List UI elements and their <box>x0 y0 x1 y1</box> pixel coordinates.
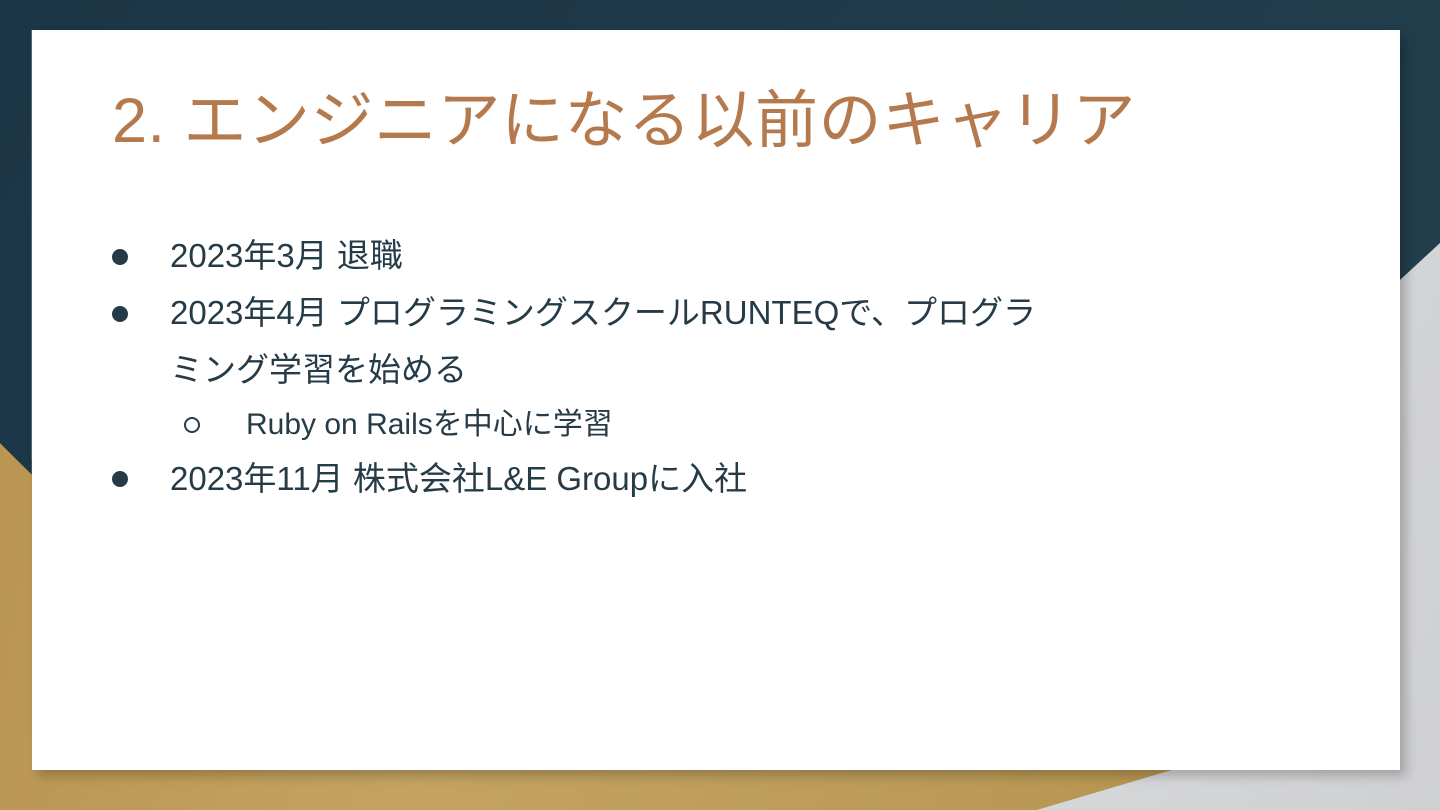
bullet-text: 2023年11月 株式会社L&E Groupに入社 <box>170 451 1302 508</box>
bullet-line: Ruby on Railsを中心に学習 <box>246 399 1302 451</box>
bullet-item: 2023年3月 退職 <box>112 228 1302 285</box>
sub-bullet-item: Ruby on Railsを中心に学習 <box>112 399 1302 451</box>
filled-disc-icon <box>112 285 170 342</box>
presentation-slide: 2. エンジニアになる以前のキャリア 2023年3月 退職 2023年4月 プロ… <box>0 0 1440 810</box>
bullet-line: 2023年3月 退職 <box>170 228 1302 285</box>
filled-disc-icon <box>112 451 170 508</box>
sub-bullet-text: Ruby on Railsを中心に学習 <box>246 399 1302 451</box>
bullet-item: 2023年4月 プログラミングスクールRUNTEQで、プログラ ミング学習を始め… <box>112 285 1302 399</box>
slide-title: 2. エンジニアになる以前のキャリア <box>112 85 1292 157</box>
bullet-line: ミング学習を始める <box>170 342 1302 399</box>
bullet-line: 2023年11月 株式会社L&E Groupに入社 <box>170 451 1302 508</box>
hollow-circle-icon <box>184 399 246 451</box>
bullet-line: 2023年4月 プログラミングスクールRUNTEQで、プログラ <box>170 285 1302 342</box>
filled-disc-icon <box>112 228 170 285</box>
bullet-text: 2023年4月 プログラミングスクールRUNTEQで、プログラ ミング学習を始め… <box>170 285 1302 399</box>
bullet-item: 2023年11月 株式会社L&E Groupに入社 <box>112 451 1302 508</box>
bullet-text: 2023年3月 退職 <box>170 228 1302 285</box>
slide-bullet-list: 2023年3月 退職 2023年4月 プログラミングスクールRUNTEQで、プロ… <box>112 228 1302 508</box>
